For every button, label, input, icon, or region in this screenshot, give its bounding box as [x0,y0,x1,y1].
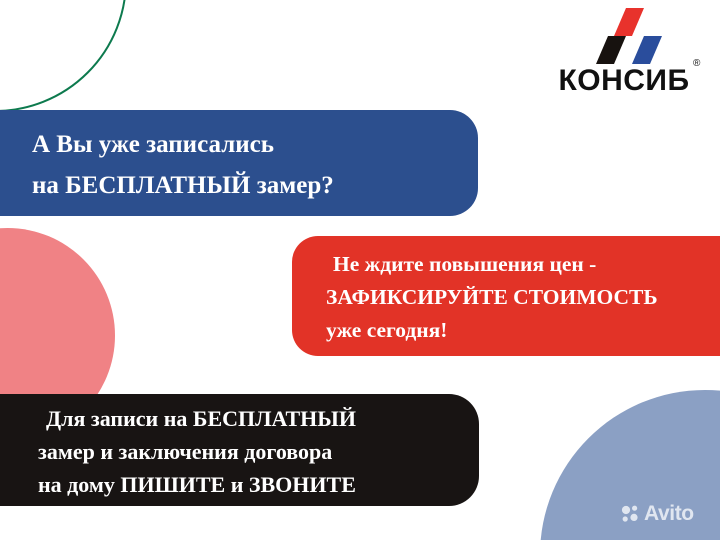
banner-red-line-3: уже сегодня! [326,314,720,347]
registered-trademark-mark: ® [693,58,700,69]
avito-dots-icon [620,503,640,523]
banner-red-line-2: ЗАФИКСИРУЙТЕ СТОИМОСТЬ [326,281,720,314]
headline-banner-blue: А Вы уже записались на БЕСПЛАТНЫЙ замер? [0,110,478,216]
cta-banner-black: Для записи на БЕСПЛАТНЫЙ замер и заключе… [0,394,479,506]
advertisement-canvas: КОНСИБ ® А Вы уже записались на БЕСПЛАТН… [0,0,720,540]
company-logo: КОНСИБ ® [536,8,712,104]
banner-black-line-1: Для записи на БЕСПЛАТНЫЙ [38,402,479,435]
avito-watermark: Avito [620,500,694,526]
avito-watermark-label: Avito [644,503,694,524]
logo-wordmark: КОНСИБ [536,64,712,98]
banner-black-line-2: замер и заключения договора [38,435,479,468]
urgency-banner-red: Не ждите повышения цен - ЗАФИКСИРУЙТЕ СТ… [292,236,720,356]
konsib-logo-mark-icon [594,8,672,64]
banner-black-line-3: на дому ПИШИТЕ и ЗВОНИТЕ [38,468,479,501]
banner-red-line-1: Не ждите повышения цен - [326,248,720,281]
green-ring-decoration [0,0,127,112]
banner-blue-line-1: А Вы уже записались [32,124,478,165]
banner-blue-line-2: на БЕСПЛАТНЫЙ замер? [32,165,478,206]
